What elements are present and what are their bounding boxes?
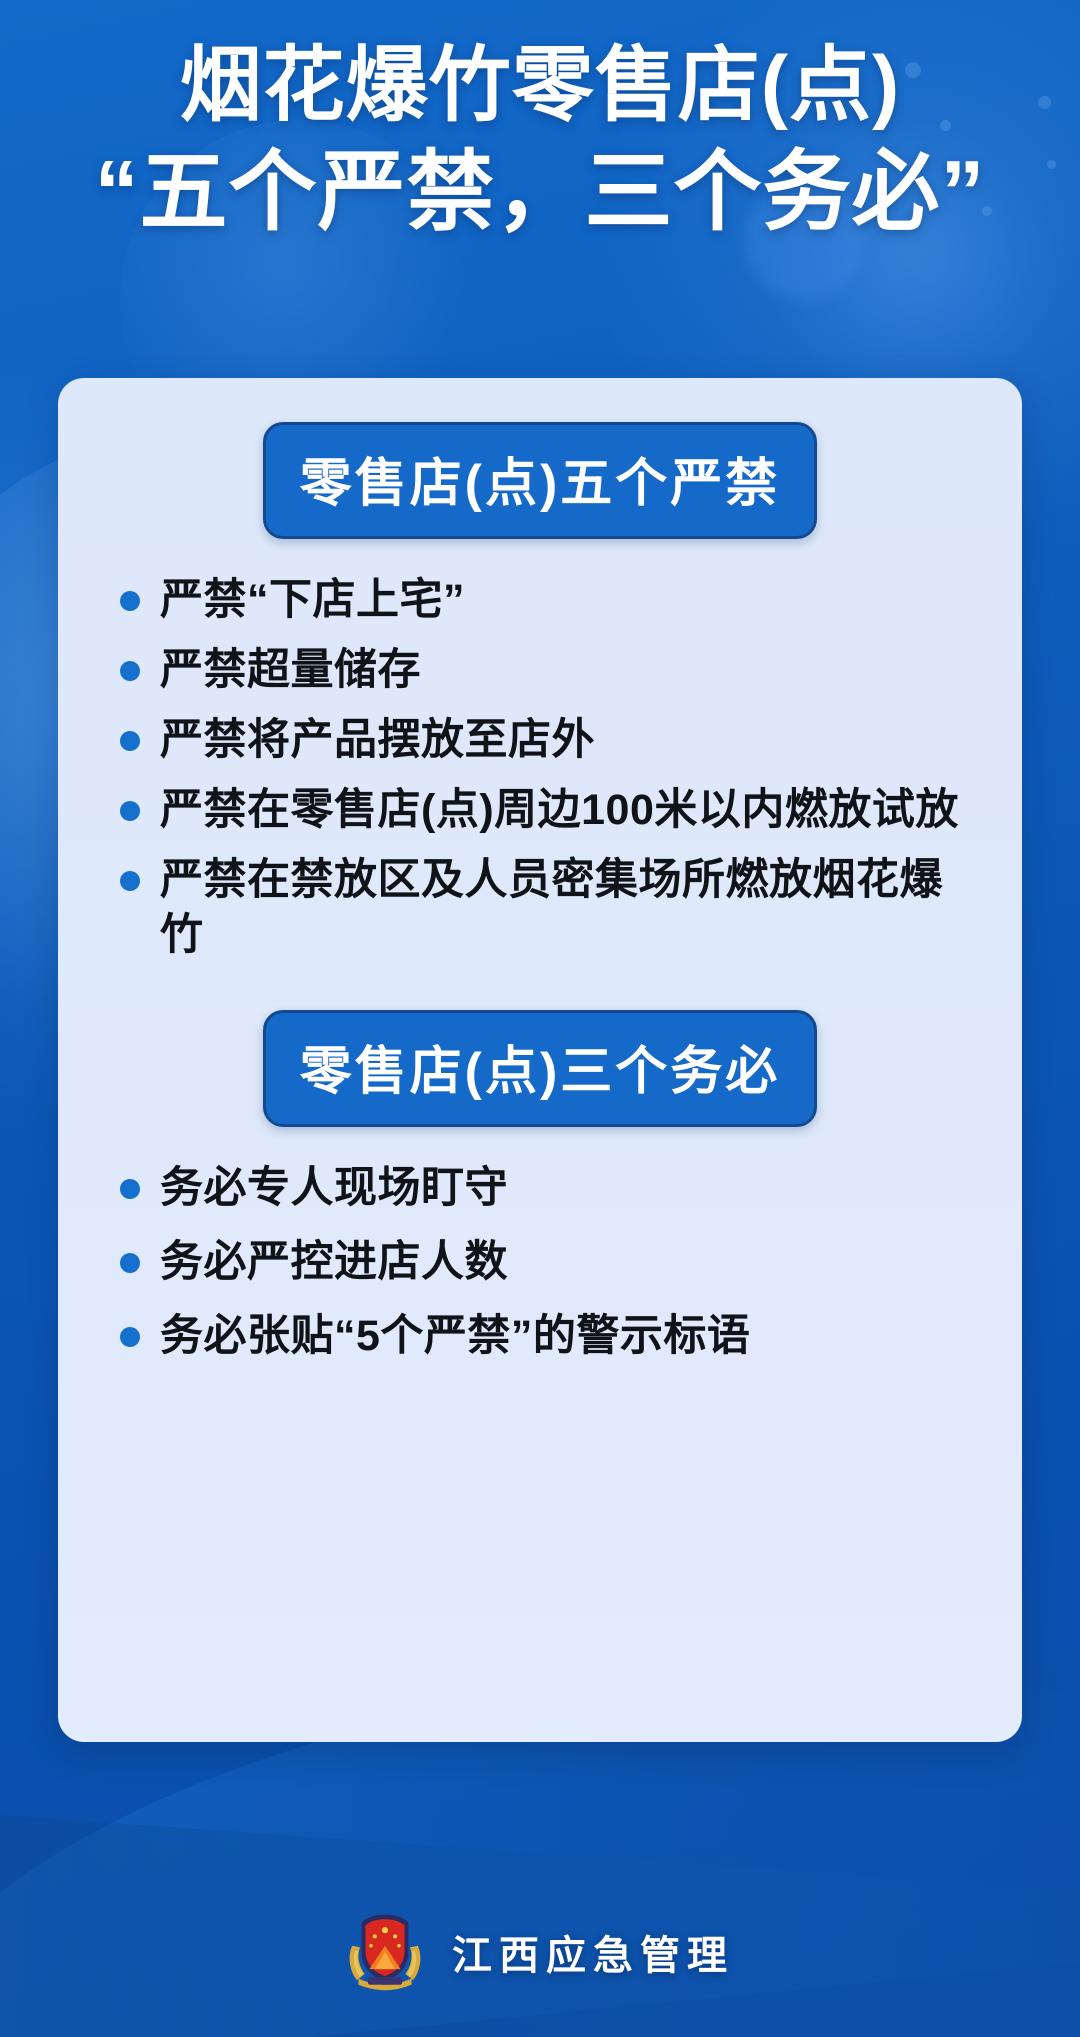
- poster-title: 烟花爆竹零售店(点) “五个严禁，三个务必”: [0, 38, 1080, 243]
- title-line-1: 烟花爆竹零售店(点): [0, 38, 1080, 133]
- list-item: 务必张贴“5个严禁”的警示标语: [112, 1309, 982, 1365]
- poster-footer: 江西应急管理: [0, 1911, 1080, 1993]
- section-heading-prohibitions: 零售店(点)五个严禁: [263, 422, 818, 539]
- list-item: 严禁超量储存: [112, 643, 982, 699]
- section-heading-musts: 零售店(点)三个务必: [263, 1010, 818, 1127]
- musts-list: 务必专人现场盯守 务必严控进店人数 务必张贴“5个严禁”的警示标语: [112, 1161, 982, 1365]
- list-item: 严禁在禁放区及人员密集场所燃放烟花爆竹: [112, 853, 982, 965]
- list-item: 严禁“下店上宅”: [112, 573, 982, 629]
- list-item: 务必专人现场盯守: [112, 1161, 982, 1217]
- list-item: 务必严控进店人数: [112, 1235, 982, 1291]
- section-heading-row-musts: 零售店(点)三个务必: [98, 1010, 982, 1127]
- list-item: 严禁在零售店(点)周边100米以内燃放试放: [112, 783, 982, 839]
- section-heading-row-prohibitions: 零售店(点)五个严禁: [98, 422, 982, 539]
- list-item: 严禁将产品摆放至店外: [112, 713, 982, 769]
- prohibitions-list: 严禁“下店上宅” 严禁超量储存 严禁将产品摆放至店外 严禁在零售店(点)周边10…: [112, 573, 982, 964]
- emergency-management-emblem-icon: [346, 1911, 424, 1993]
- content-card: 零售店(点)五个严禁 严禁“下店上宅” 严禁超量储存 严禁将产品摆放至店外 严禁…: [58, 378, 1022, 1742]
- title-line-2: “五个严禁，三个务必”: [0, 141, 1080, 243]
- organization-name: 江西应急管理: [452, 1923, 734, 1981]
- poster-canvas: 烟花爆竹零售店(点) “五个严禁，三个务必” 零售店(点)五个严禁 严禁“下店上…: [0, 0, 1080, 2037]
